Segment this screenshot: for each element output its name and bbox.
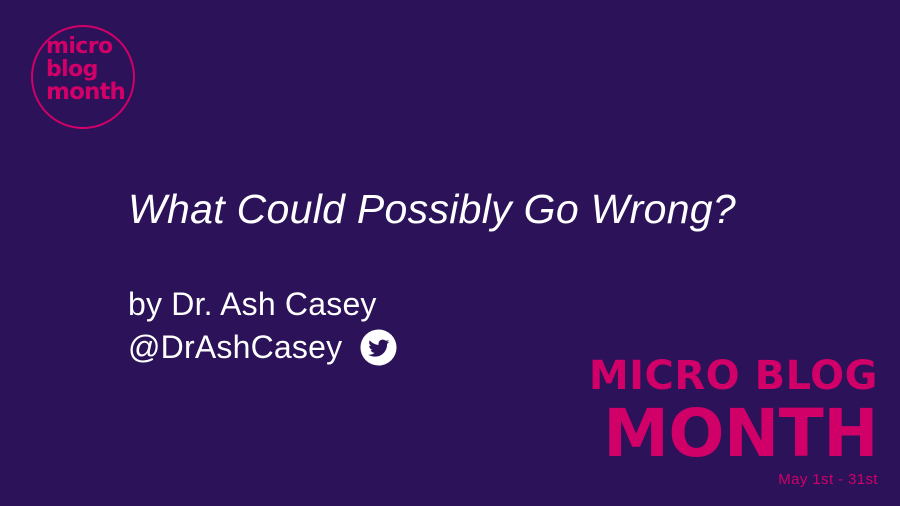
byline-block: by Dr. Ash Casey @DrAshCasey xyxy=(128,285,397,366)
logo-line-month: month xyxy=(46,81,142,104)
author-name: by Dr. Ash Casey xyxy=(128,285,397,323)
logo-line-micro: micro xyxy=(46,36,142,59)
brand-line-micro-blog: MICRO BLOG xyxy=(589,356,878,396)
slide-title: What Could Possibly Go Wrong? xyxy=(128,186,736,233)
brand-line-month: MONTH xyxy=(589,403,878,465)
twitter-icon[interactable] xyxy=(360,329,397,366)
brand-dates: May 1st - 31st xyxy=(589,471,878,488)
logo-line-blog: blog xyxy=(46,59,142,82)
handle-row: @DrAshCasey xyxy=(128,328,397,366)
presentation-slide: micro blog month What Could Possibly Go … xyxy=(0,0,900,506)
brand-lockup: MICRO BLOG MONTH May 1st - 31st xyxy=(589,356,878,488)
logo-wordmark: micro blog month xyxy=(46,36,142,104)
author-handle: @DrAshCasey xyxy=(128,328,342,366)
micro-blog-month-logo: micro blog month xyxy=(31,25,135,129)
